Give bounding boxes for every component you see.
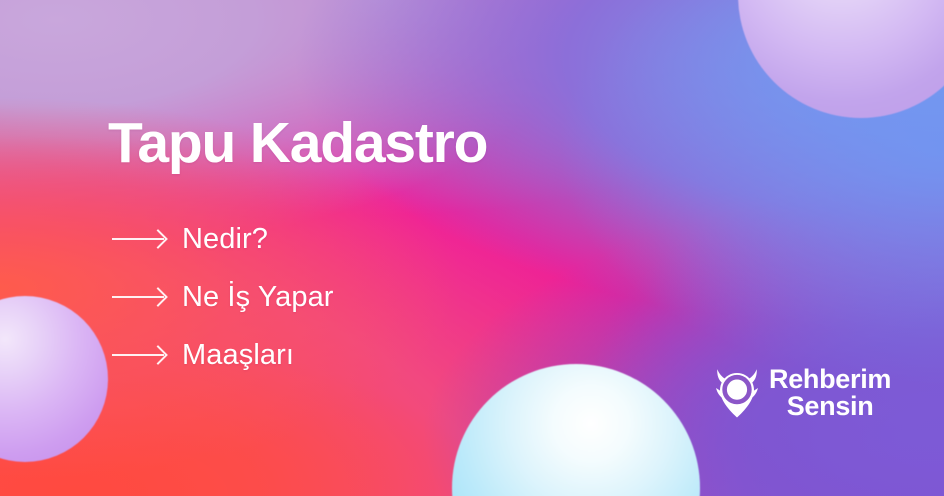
banner-content: Tapu Kadastro Nedir? Ne İş Yapar Maaşlar… <box>0 0 944 496</box>
page-title: Tapu Kadastro <box>108 113 487 175</box>
list-item-label: Ne İş Yapar <box>182 281 334 314</box>
brand-line-2: Sensin <box>787 393 874 419</box>
brand-logo[interactable]: Rehberim Sensin <box>714 366 891 420</box>
brand-wordmark: Rehberim Sensin <box>769 366 891 420</box>
list-item[interactable]: Nedir? <box>112 210 334 268</box>
arrow-right-icon <box>112 238 164 240</box>
list-item-label: Maaşları <box>182 339 294 372</box>
topic-list: Nedir? Ne İş Yapar Maaşları <box>112 210 334 384</box>
promo-banner: Tapu Kadastro Nedir? Ne İş Yapar Maaşlar… <box>0 0 944 496</box>
list-item-label: Nedir? <box>182 223 268 256</box>
arrow-right-icon <box>112 296 164 298</box>
brand-line-1: Rehberim <box>769 366 891 392</box>
list-item[interactable]: Ne İş Yapar <box>112 268 334 326</box>
list-item[interactable]: Maaşları <box>112 326 334 384</box>
arrow-right-icon <box>112 354 164 356</box>
map-pin-compass-icon <box>714 367 760 419</box>
